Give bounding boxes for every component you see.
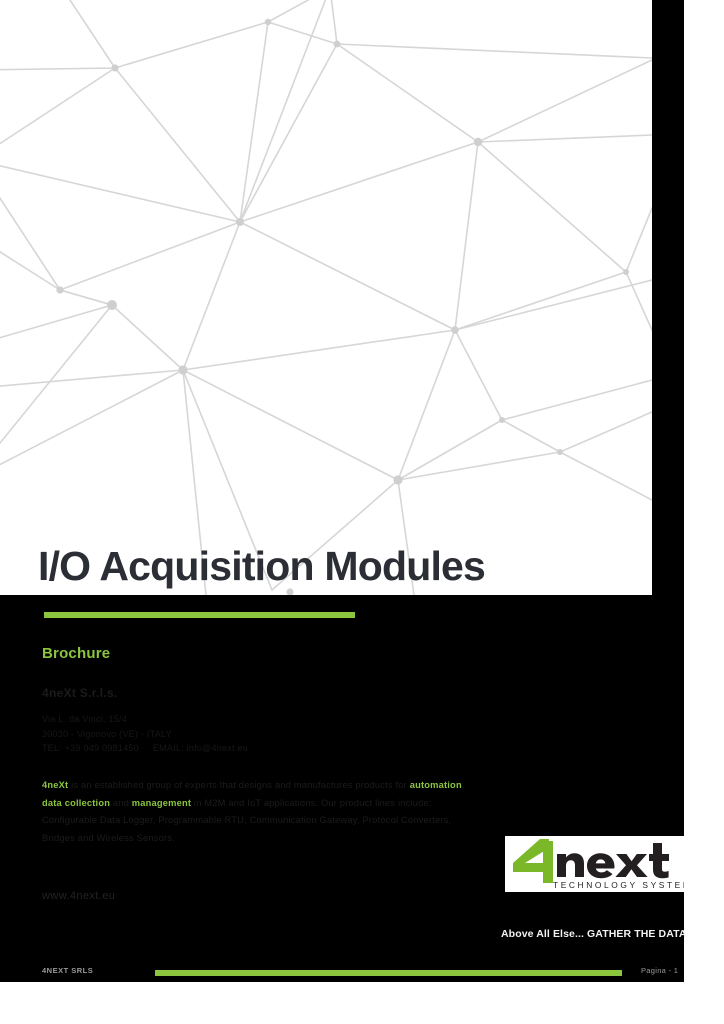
- tel-label: TEL:: [42, 743, 62, 753]
- footer-page-number: Pagina - 1: [641, 966, 678, 975]
- description-part-2: and: [110, 798, 132, 808]
- company-name: 4neXt S.r.l.s.: [42, 686, 118, 700]
- contact-line: TEL: +39 049 0981450EMAIL: info@4next.eu: [42, 741, 462, 756]
- document-subtitle: Brochure: [42, 645, 110, 662]
- hero-panel: [0, 0, 652, 595]
- company-description: 4neXt is an established group of experts…: [42, 777, 472, 847]
- title-accent-rule: [44, 612, 355, 618]
- keyword-management: management: [132, 798, 191, 808]
- page-title-band: I/O Acquisition Modules: [0, 538, 652, 595]
- website-link[interactable]: www.4next.eu: [42, 890, 115, 902]
- svg-text:TECHNOLOGY SYSTEMS: TECHNOLOGY SYSTEMS: [553, 880, 684, 890]
- description-sep-1: ,: [462, 780, 465, 790]
- company-address-block: Via L. da Vinci, 15/4 30030 - Vigonovo (…: [42, 712, 462, 756]
- tel-value: +39 049 0981450: [65, 743, 139, 753]
- page-title: I/O Acquisition Modules: [0, 546, 485, 587]
- keyword-automation: automation: [410, 780, 462, 790]
- address-line-2: 30030 - Vigonovo (VE) - ITALY: [42, 727, 462, 742]
- company-logo: TECHNOLOGY SYSTEMS: [505, 836, 684, 892]
- tagline: Above All Else... GATHER THE DATA: [501, 928, 687, 940]
- brochure-cover-page: I/O Acquisition Modules Brochure 4neXt S…: [0, 0, 724, 1024]
- footer-company-label: 4NEXT SRLS: [42, 966, 93, 975]
- logo-4next-icon: TECHNOLOGY SYSTEMS: [505, 836, 684, 892]
- address-line-1: Via L. da Vinci, 15/4: [42, 712, 462, 727]
- description-part-1: is an established group of experts that …: [68, 780, 409, 790]
- email-value: info@4next.eu: [187, 743, 248, 753]
- keyword-data-collection: data collection: [42, 798, 110, 808]
- polygon-mesh-graphic: [0, 0, 652, 595]
- brand-mention: 4neXt: [42, 780, 68, 790]
- footer-accent-rule: [155, 970, 622, 976]
- email-label: EMAIL:: [153, 743, 184, 753]
